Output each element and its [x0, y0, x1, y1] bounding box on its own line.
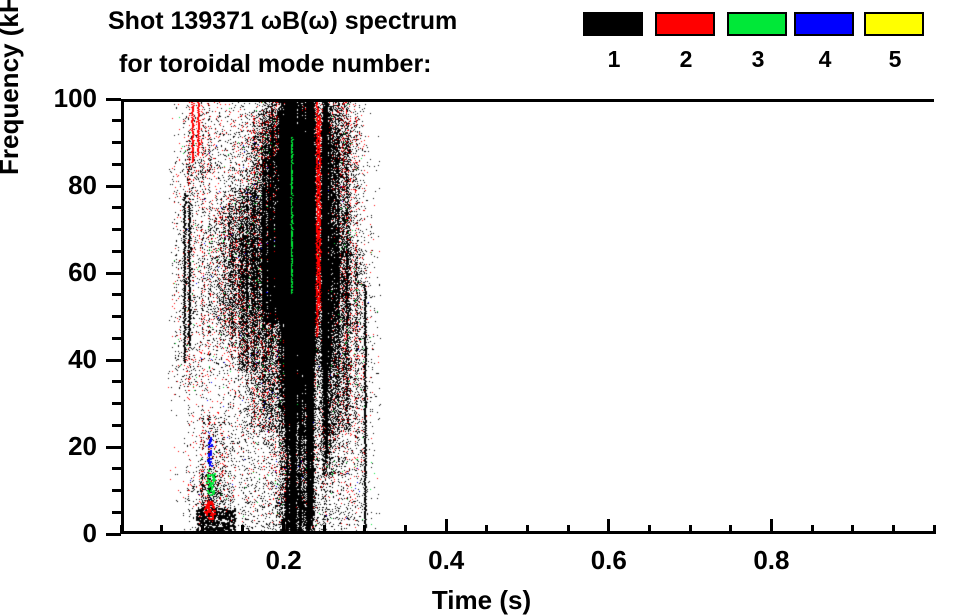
y-tick-minor [112, 402, 121, 405]
legend-label-2: 2 [655, 48, 717, 71]
y-tick-major [106, 98, 121, 101]
y-tick-major [106, 359, 121, 362]
x-tick-label-0.2: 0.2 [239, 546, 329, 574]
legend-item-5: 5 [864, 12, 926, 71]
x-tick-label-0.4: 0.4 [401, 546, 491, 574]
y-axis-label: Frequency (kHz) [0, 0, 25, 175]
y-tick-minor [112, 119, 121, 122]
spectrogram-canvas [124, 102, 934, 534]
legend-label-3: 3 [727, 48, 789, 71]
legend-item-4: 4 [794, 12, 856, 71]
legend-swatch-3 [727, 12, 787, 36]
legend-item-3: 3 [727, 12, 789, 71]
legend-label-5: 5 [864, 48, 926, 71]
y-tick-major [106, 533, 121, 536]
y-tick-minor [112, 206, 121, 209]
x-tick-label-0.8: 0.8 [726, 546, 816, 574]
chart-title-line-2: for toroidal mode number: [119, 50, 432, 79]
y-tick-label-40: 40 [0, 345, 97, 373]
y-tick-minor [112, 315, 121, 318]
y-tick-minor [112, 467, 121, 470]
legend-label-1: 1 [583, 48, 645, 71]
y-tick-major [106, 446, 121, 449]
legend-label-4: 4 [794, 48, 856, 71]
y-tick-minor [112, 163, 121, 166]
x-tick-label-0.6: 0.6 [564, 546, 654, 574]
y-tick-minor [112, 141, 121, 144]
y-tick-major [106, 272, 121, 275]
y-tick-label-80: 80 [0, 171, 97, 199]
legend-swatch-4 [794, 12, 854, 36]
y-tick-minor [112, 337, 121, 340]
legend-swatch-2 [655, 12, 715, 36]
legend-item-2: 2 [655, 12, 717, 71]
y-tick-label-20: 20 [0, 432, 97, 460]
y-tick-label-0: 0 [0, 519, 97, 547]
chart-title-line-1: Shot 139371 ωB(ω) spectrum [108, 7, 457, 36]
y-tick-minor [112, 228, 121, 231]
y-tick-minor [112, 293, 121, 296]
y-tick-label-60: 60 [0, 258, 97, 286]
y-tick-minor [112, 380, 121, 383]
y-tick-minor [112, 489, 121, 492]
y-tick-minor [112, 511, 121, 514]
y-tick-major [106, 185, 121, 188]
legend-swatch-5 [864, 12, 924, 36]
y-tick-minor [112, 424, 121, 427]
figure-root: Shot 139371 ωB(ω) spectrum for toroidal … [0, 0, 963, 615]
legend-item-1: 1 [583, 12, 645, 71]
legend-swatch-1 [583, 12, 643, 36]
x-axis-label: Time (s) [0, 585, 963, 616]
plot-area [121, 99, 934, 534]
y-tick-minor [112, 250, 121, 253]
legend: 12345 [583, 12, 933, 90]
